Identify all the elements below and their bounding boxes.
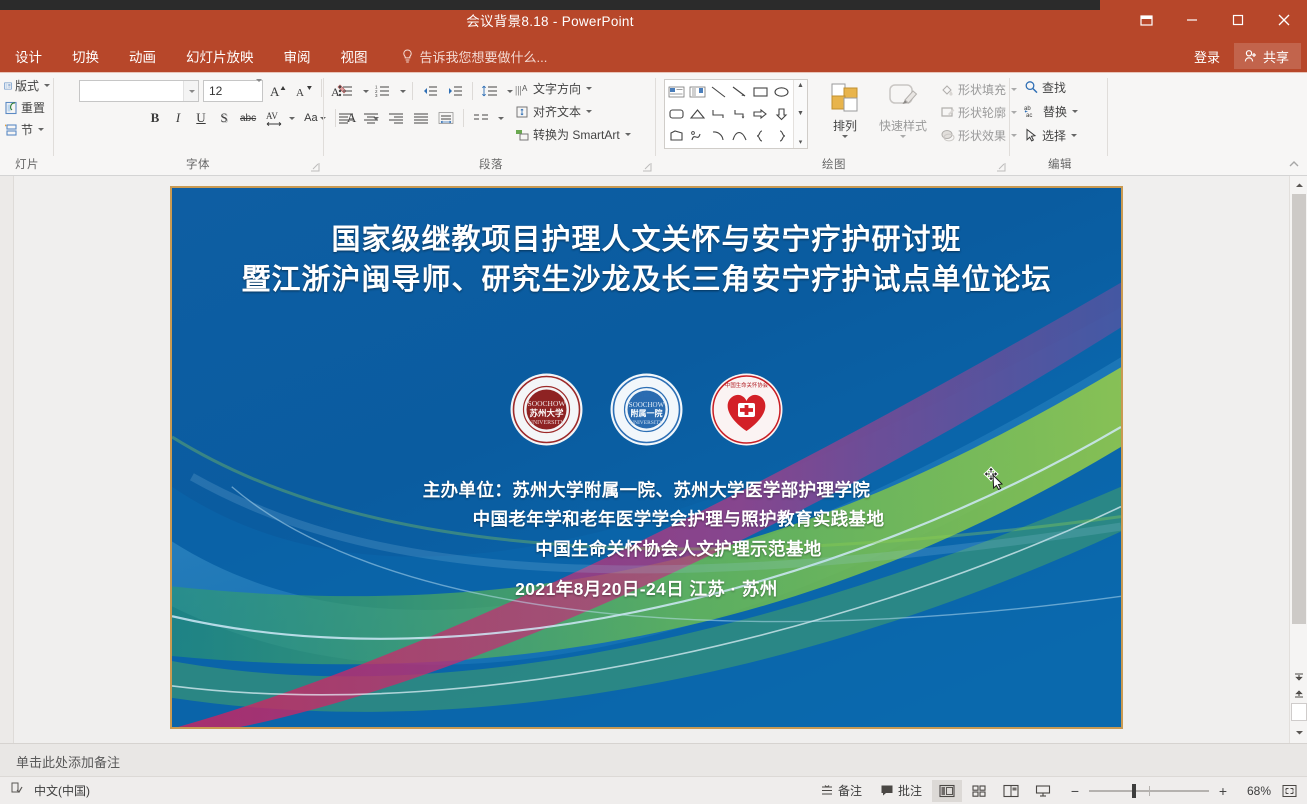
svg-text:ac: ac [1026,113,1032,118]
shape-oval-icon[interactable] [771,81,792,103]
body-line-2: 中国老年学和老年医学学会护理与照护教育实践基地 [172,505,1121,534]
slide-sorter-view-button[interactable] [964,780,994,802]
status-bar: 中文(中国) 备注 批注 − [0,776,1307,804]
align-center-button[interactable] [359,106,383,130]
powerpoint-window: 会议背景8.18 - PowerPoint 设计 切换 动画 幻灯片放映 审阅 … [0,0,1307,804]
account-area: 登录 共享 [1180,40,1307,72]
shapes-gallery[interactable]: ▲ ▼ ▾ [664,79,808,149]
slide-title[interactable]: 国家级继教项目护理人文关怀与安宁疗护研讨班 暨江浙沪闽导师、研究生沙龙及长三角安… [172,220,1121,300]
next-slide-icon[interactable] [1290,667,1307,685]
layout-button[interactable]: 版式 [0,75,54,96]
share-label: 共享 [1263,47,1289,66]
shape-arrow-icon[interactable] [729,81,750,103]
zoom-out-button[interactable]: − [1068,783,1082,799]
zoom-slider-handle[interactable] [1132,784,1136,798]
numbering-dropdown[interactable] [396,79,407,103]
svg-text:苏州大学: 苏州大学 [529,408,564,418]
shape-right-arrow-icon[interactable] [750,103,771,125]
svg-text:UNIVERSITY: UNIVERSITY [630,420,663,426]
editing-workspace: 国家级继教项目护理人文关怀与安宁疗护研讨班 暨江浙沪闽导师、研究生沙龙及长三角安… [0,176,1307,743]
previous-slide-icon[interactable] [1290,685,1307,703]
notes-button-label: 备注 [838,782,862,799]
text-shadow-button[interactable]: S [213,106,235,130]
select-label: 选择 [1042,127,1066,144]
shape-line-icon[interactable] [708,81,729,103]
ribbon-group-font: 12 A A A B I U S abc [72,74,324,174]
quick-styles-button[interactable]: 快速样式 [874,79,932,138]
columns-dropdown[interactable] [494,106,505,130]
chevron-down-icon[interactable] [183,81,198,101]
slide-canvas[interactable]: 国家级继教项目护理人文关怀与安宁疗护研讨班 暨江浙沪闽导师、研究生沙龙及长三角安… [170,186,1123,729]
character-spacing-button[interactable]: AV [261,106,299,130]
shape-rectangle-icon[interactable] [750,81,771,103]
select-button[interactable]: 选择 [1020,124,1108,146]
cursor-select-icon [1024,128,1039,142]
align-text-button[interactable]: 对齐文本 [511,101,635,122]
decrease-font-size-icon[interactable]: A [292,79,316,103]
reset-label: 重置 [21,99,45,116]
chevron-down-icon [586,110,592,113]
slides-group-label: 灯片 [0,156,54,172]
person-add-icon [1244,49,1258,63]
shape-rounded-rectangle-icon[interactable] [666,103,687,125]
close-icon[interactable] [1261,5,1307,35]
spell-check-icon[interactable] [10,781,24,800]
slide-title-line-2: 暨江浙沪闽导师、研究生沙龙及长三角安宁疗护试点单位论坛 [172,260,1121,300]
notes-placeholder: 单击此处添加备注 [16,752,120,771]
shape-fill-label: 形状填充 [958,81,1006,98]
shape-arc-icon[interactable] [708,125,729,147]
shape-outline-icon [940,105,955,119]
find-label: 查找 [1042,79,1066,96]
slideshow-view-button[interactable] [1028,780,1058,802]
tell-me-placeholder: 告诉我您想要做什么... [420,47,548,66]
svg-text:中国生命关怀协会: 中国生命关怀协会 [725,381,769,389]
scrollbar-thumb[interactable] [1292,194,1306,624]
chevron-down-icon [900,135,906,138]
group-divider [53,78,54,156]
chevron-down-icon [400,90,406,93]
font-size-value: 12 [204,84,254,98]
normal-view-button[interactable] [932,780,962,802]
chevron-down-icon [363,90,369,93]
italic-button[interactable]: I [167,106,189,130]
text-direction-button[interactable]: |||A 文字方向 [511,78,635,99]
shape-effects-label: 形状效果 [958,127,1006,144]
quick-styles-label: 快速样式 [874,117,932,134]
strikethrough-button[interactable]: abc [236,106,260,130]
svg-text:SOOCHOW: SOOCHOW [528,399,567,408]
scroll-down-icon[interactable]: ▼ [797,110,804,117]
font-size-combobox[interactable]: 12 [203,80,263,102]
replace-button[interactable]: abac 替换 [1020,100,1108,122]
find-button[interactable]: 查找 [1020,76,1108,98]
shape-pentagon-icon[interactable] [666,125,687,147]
increase-indent-button[interactable] [443,79,467,103]
group-divider [323,78,324,156]
paragraph-row-2 [334,106,505,130]
body-line-1: 主办单位：苏州大学附属一院、苏州大学医学部护理学院 [172,476,1121,505]
text-direction-label: 文字方向 [533,80,581,97]
tab-slideshow[interactable]: 幻灯片放映 [171,40,269,72]
arrange-button[interactable]: 排列 [818,79,872,138]
underline-button[interactable]: U [190,106,212,130]
chevron-down-icon [1071,134,1077,137]
shape-fill-icon [940,82,955,96]
scrollbar-bottom-controls [1290,667,1307,741]
scroll-down-icon[interactable] [1290,723,1307,741]
reset-icon [4,101,18,115]
ribbon-group-editing: 查找 abac 替换 选择 编辑 [1012,74,1108,174]
distribute-button[interactable] [434,106,458,130]
notes-button[interactable]: 备注 [812,779,870,802]
minimize-icon[interactable] [1169,5,1215,35]
shape-down-arrow-icon[interactable] [771,103,792,125]
shape-right-brace-icon[interactable] [771,125,792,147]
chevron-down-icon[interactable] [254,82,262,100]
group-divider [655,78,656,156]
status-right: 备注 批注 − [812,779,1307,802]
svg-text:1883: 1883 [641,393,652,399]
body-line-3: 中国生命关怀协会人文护理示范基地 [172,535,1121,564]
ribbon-tabs: 设计 切换 动画 幻灯片放映 审阅 视图 告诉我您想要做什么... [0,40,1307,72]
replace-label: 替换 [1043,103,1067,120]
zoom-control[interactable]: − + 68% [1068,783,1271,799]
decrease-indent-button[interactable] [418,79,442,103]
arrange-icon [818,79,872,117]
comment-icon [880,784,894,797]
shape-triangle-icon[interactable] [687,103,708,125]
window-controls [1123,0,1307,40]
svg-text:AV: AV [266,111,278,121]
chevron-down-icon [842,135,848,138]
zoom-slider[interactable] [1089,784,1209,798]
numbering-button[interactable]: 123 [371,79,395,103]
replace-icon: abac [1024,104,1040,118]
paragraph-group-label: 段落 [326,156,656,172]
text-direction-icon: |||A [515,82,530,96]
tab-view[interactable]: 视图 [326,40,383,72]
ribbon-group-paragraph: 123 [326,74,656,174]
logo-row[interactable]: SOOCHOW 苏州大学 UNIVERSITY 1883 SOOCHOW [172,373,1121,446]
shape-textbox-icon[interactable] [666,81,687,103]
group-divider [1009,78,1010,156]
zoom-in-button[interactable]: + [1216,783,1230,799]
chevron-down-icon [289,117,295,120]
paragraph-dialog-launcher[interactable] [642,160,653,171]
font-dialog-launcher[interactable] [310,160,321,171]
bullets-dropdown[interactable] [359,79,370,103]
chevron-down-icon [44,84,50,87]
tab-transitions[interactable]: 切换 [57,40,114,72]
svg-text:A: A [270,84,280,99]
share-button[interactable]: 共享 [1234,43,1301,69]
first-affiliated-hospital-logo[interactable]: 1883 SOOCHOW 附属一院 UNIVERSITY [610,373,683,446]
bullets-button[interactable] [334,79,358,103]
align-text-label: 对齐文本 [533,103,581,120]
ribbon-group-slides: 版式 重置 节 灯片 [0,74,54,174]
shape-outline-label: 形状轮廓 [958,104,1006,121]
sign-in-button[interactable]: 登录 [1180,40,1234,72]
window-title: 会议背景8.18 - PowerPoint [0,0,1100,40]
align-left-button[interactable] [334,106,358,130]
shape-scribble-icon[interactable] [687,125,708,147]
shape-elbow-connector-icon[interactable] [708,103,729,125]
ribbon-display-options-icon[interactable] [1123,5,1169,35]
paragraph-row-1: 123 [334,79,514,103]
ribbon: 版式 重置 节 灯片 12 [0,72,1307,176]
section-button[interactable]: 节 [0,119,54,140]
zoom-level[interactable]: 68% [1237,784,1271,798]
gallery-more-icon[interactable]: ▾ [799,138,803,146]
font-group-label: 字体 [72,156,324,172]
quick-styles-icon [874,79,932,117]
ribbon-group-drawing: ▲ ▼ ▾ 排列 [658,74,1010,174]
svg-text:UNIVERSITY: UNIVERSITY [529,420,566,426]
section-label: 节 [21,121,33,138]
notes-icon [820,784,834,797]
lightbulb-icon [401,49,414,64]
tab-animations[interactable]: 动画 [114,40,171,72]
layout-label: 版式 [15,77,39,94]
life-care-association-logo[interactable]: 中国生命关怀协会 [710,373,783,446]
scroll-up-icon[interactable] [1290,176,1307,194]
comments-button[interactable]: 批注 [872,779,930,802]
shape-curve-icon[interactable] [729,125,750,147]
editing-group-label: 编辑 [1012,156,1108,172]
reading-view-button[interactable] [996,780,1026,802]
comments-button-label: 批注 [898,782,922,799]
scroll-box[interactable] [1291,703,1307,721]
svg-text:A: A [522,84,528,93]
chevron-down-icon [1072,110,1078,113]
group-divider [1107,78,1108,156]
tell-me-search[interactable]: 告诉我您想要做什么... [401,47,548,66]
arrange-label: 排列 [818,117,872,134]
align-right-button[interactable] [384,106,408,130]
maximize-restore-icon[interactable] [1215,5,1261,35]
svg-text:附属一院: 附属一院 [631,408,663,418]
chevron-down-icon [625,133,631,136]
increase-font-size-icon[interactable]: A [267,79,291,103]
columns-button[interactable] [469,106,493,130]
search-icon [1024,80,1039,94]
svg-text:A: A [296,87,304,99]
layout-icon [4,79,12,93]
font-name-combobox[interactable] [79,80,199,102]
scroll-up-icon[interactable]: ▲ [797,82,804,89]
paragraph-text-options: |||A 文字方向 对齐文本 转换为 SmartArt [511,78,635,147]
soochow-university-logo[interactable]: SOOCHOW 苏州大学 UNIVERSITY [510,373,583,446]
chevron-down-icon [586,87,592,90]
tab-review[interactable]: 审阅 [269,40,326,72]
svg-text:|||: ||| [515,84,522,96]
justify-button[interactable] [409,106,433,130]
line-spacing-button[interactable] [478,79,502,103]
shapes-gallery-scroll[interactable]: ▲ ▼ ▾ [793,80,807,148]
section-icon [4,123,18,137]
reset-button[interactable]: 重置 [0,97,54,118]
drawing-group-label: 绘图 [658,156,1010,172]
slide-body[interactable]: 主办单位：苏州大学附属一院、苏州大学医学部护理学院 中国老年学和老年医学学会护理… [172,476,1121,605]
language-indicator[interactable]: 中文(中国) [34,782,90,799]
collapse-ribbon-icon[interactable] [1287,157,1301,171]
notes-pane[interactable]: 单击此处添加备注 [0,743,1307,776]
svg-text:SOOCHOW: SOOCHOW [629,401,665,409]
bold-button[interactable]: B [144,106,166,130]
convert-smartart-button[interactable]: 转换为 SmartArt [511,124,635,145]
smartart-icon [515,128,530,142]
convert-smartart-label: 转换为 SmartArt [533,126,620,143]
slide-thumbnail-pane[interactable] [0,176,14,743]
shape-effects-icon [940,128,955,142]
fit-slide-to-window-button[interactable] [1277,780,1301,802]
shape-left-brace-icon[interactable] [750,125,771,147]
slide[interactable]: 国家级继教项目护理人文关怀与安宁疗护研讨班 暨江浙沪闽导师、研究生沙龙及长三角安… [170,186,1123,729]
align-text-icon [515,105,530,119]
chevron-down-icon [498,117,504,120]
body-date-line: 2021年8月20日-24日 江苏 · 苏州 [172,575,1121,604]
slide-title-line-1: 国家级继教项目护理人文关怀与安宁疗护研讨班 [172,220,1121,260]
drawing-dialog-launcher[interactable] [996,160,1007,171]
tab-design[interactable]: 设计 [0,40,57,72]
title-bar: 会议背景8.18 - PowerPoint [0,0,1307,40]
shape-elbow-arrow-icon[interactable] [729,103,750,125]
svg-text:3: 3 [375,93,378,98]
status-left: 中文(中国) [0,781,90,800]
vertical-scrollbar[interactable] [1289,176,1307,743]
chevron-down-icon [38,128,44,131]
shape-vertical-textbox-icon[interactable] [687,81,708,103]
